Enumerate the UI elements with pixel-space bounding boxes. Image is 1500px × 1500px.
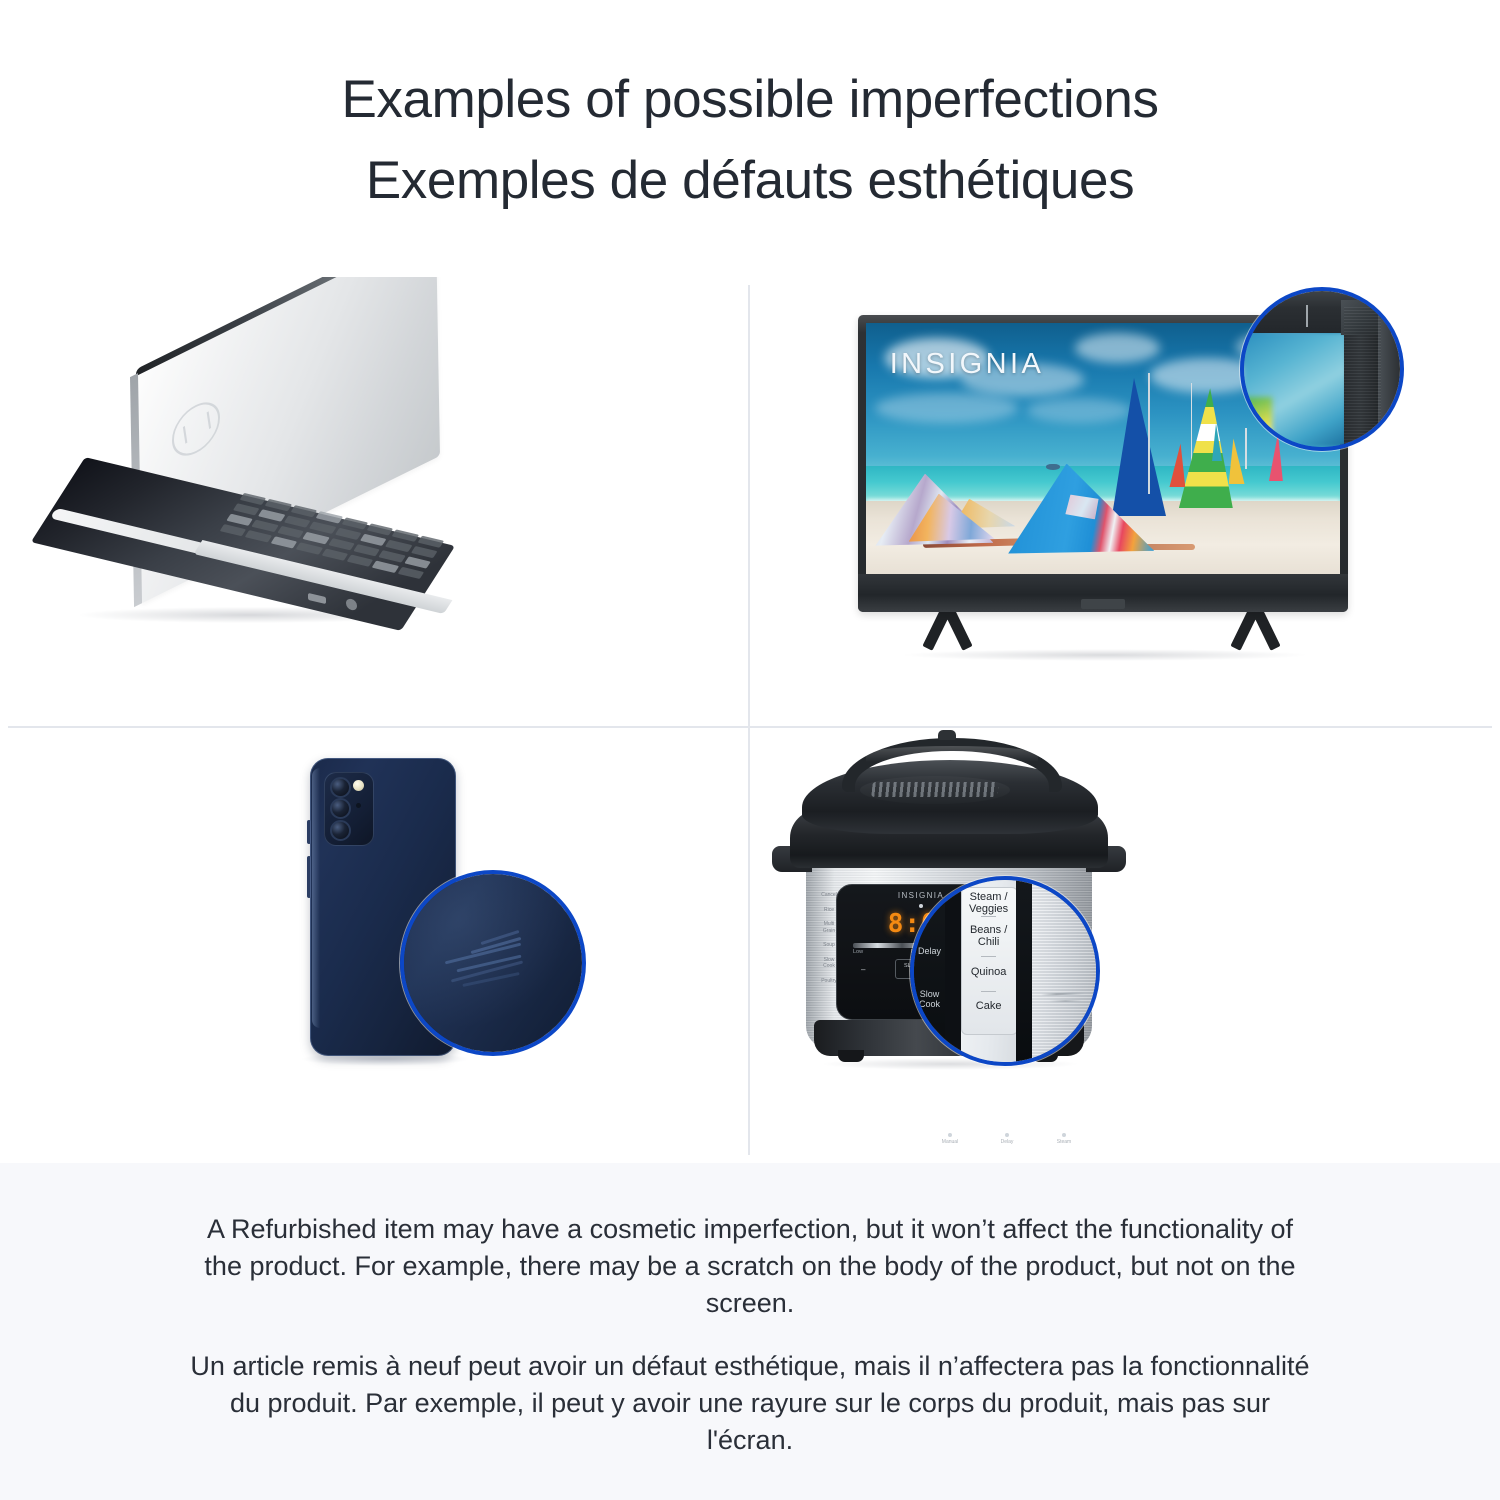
quadrant-smartphone: [0, 720, 750, 1163]
magnifier-cooker-surface: Steam / Veggies Beans / Chili Quinoa Cak…: [914, 880, 1096, 1062]
smartphone-illustration: [0, 720, 750, 1163]
magnifier-cooker-scratch: Steam / Veggies Beans / Chili Quinoa Cak…: [910, 876, 1100, 1066]
magnified-button-beans-chili: Beans / Chili: [961, 924, 1016, 948]
cooker-button-steam[interactable]: Steam: [1047, 1133, 1081, 1145]
quadrant-television: INSIGNIA: [750, 277, 1500, 720]
magnified-button-cake: Cake: [961, 1000, 1016, 1012]
television-logo-bump: [1081, 599, 1125, 609]
cooker-minus-button[interactable]: –: [861, 965, 865, 974]
laptop-illustration: [0, 277, 750, 720]
cooker-foot-left: [838, 1050, 864, 1062]
television-scratch-mark: [1306, 305, 1308, 327]
magnified-button-quinoa: Quinoa: [961, 966, 1016, 978]
quadrant-laptop: [0, 277, 750, 720]
television-illustration: INSIGNIA: [750, 277, 1500, 720]
laptop-lid-edge: [136, 277, 436, 376]
scale-label-low: Low: [853, 949, 863, 955]
footer-disclaimer: A Refurbished item may have a cosmetic i…: [0, 1163, 1500, 1500]
television-bottom-bezel: [858, 574, 1348, 612]
magnifier-television-surface: [1244, 291, 1400, 447]
magnifier-smartphone-scratches: [400, 870, 586, 1056]
product-examples-grid: INSIGNIA: [0, 277, 1500, 1163]
television-foot-right: [1208, 607, 1304, 653]
infographic-page: Examples of possible imperfections Exemp…: [0, 0, 1500, 1500]
magnified-button-steam-veggies: Steam / Veggies: [961, 891, 1016, 915]
cooker-middle-button-row: Manual Delay Steam: [933, 1133, 1081, 1145]
disclaimer-english: A Refurbished item may have a cosmetic i…: [190, 1211, 1310, 1322]
magnified-button-delay: Delay: [914, 946, 945, 956]
disclaimer-french: Un article remis à neuf peut avoir un dé…: [190, 1348, 1310, 1459]
television-foot-left: [900, 607, 996, 653]
cooker-button-delay[interactable]: Delay: [990, 1133, 1024, 1145]
header: Examples of possible imperfections Exemp…: [0, 0, 1500, 275]
laptop-base: [58, 495, 428, 611]
pressure-cooker-illustration: Cancel Rice Multi Grain Soup Slow Cook P…: [750, 720, 1500, 1163]
page-title-french: Exemples de défauts esthétiques: [0, 145, 1500, 162]
magnifier-television-scratch: [1240, 287, 1404, 451]
screen-sail-blue: [1112, 378, 1166, 516]
magnified-button-slow-cook: Slow Cook: [914, 989, 945, 1009]
quadrant-pressure-cooker: Cancel Rice Multi Grain Soup Slow Cook P…: [750, 720, 1500, 1163]
screen-brand-logo: INSIGNIA: [890, 348, 1045, 381]
cooker-button-manual[interactable]: Manual: [933, 1133, 967, 1145]
page-title-english: Examples of possible imperfections: [0, 64, 1500, 81]
screen-distant-boat: [1046, 464, 1060, 470]
cooker-pressure-valve-icon: [938, 730, 956, 740]
